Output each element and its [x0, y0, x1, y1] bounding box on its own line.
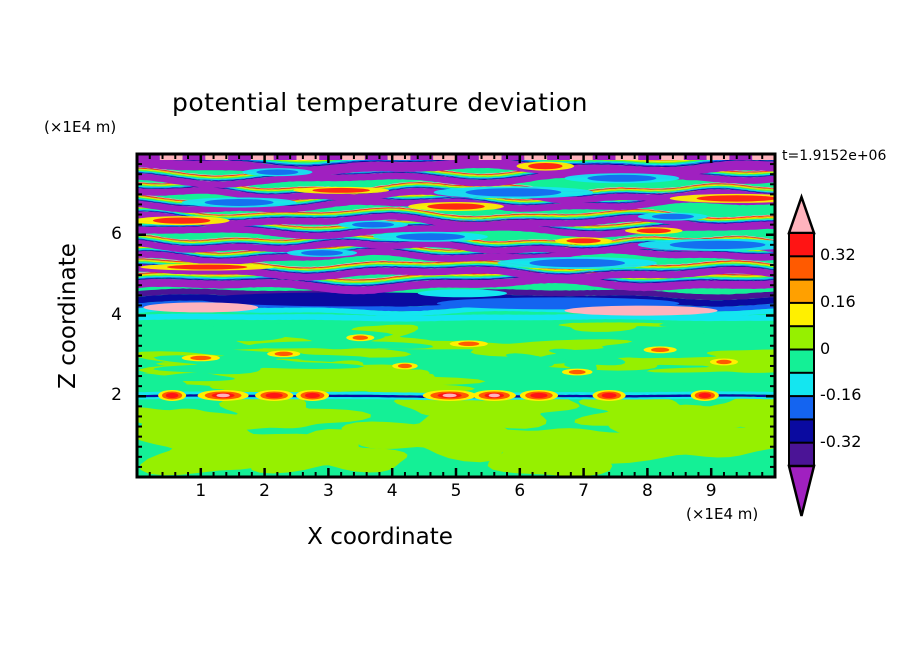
- colorbar-tick-label: -0.16: [820, 385, 861, 404]
- x-tick-label: 6: [505, 481, 535, 501]
- contour-plot: [0, 0, 904, 654]
- x-tick-label: 5: [441, 481, 471, 501]
- x-tick-label: 1: [186, 481, 216, 501]
- x-tick-label: 9: [696, 481, 726, 501]
- contour-field: [99, 148, 840, 477]
- colorbar-tick-label: -0.32: [820, 432, 861, 451]
- x-tick-label: 4: [377, 481, 407, 501]
- x-tick-label: 8: [632, 481, 662, 501]
- y-tick-label: 2: [92, 385, 122, 405]
- figure-canvas: potential temperature deviation t=1.9152…: [0, 0, 904, 654]
- x-tick-label: 3: [313, 481, 343, 501]
- colorbar: [789, 197, 814, 516]
- x-tick-label: 7: [569, 481, 599, 501]
- y-tick-label: 4: [92, 305, 122, 325]
- colorbar-tick-label: 0.32: [820, 245, 856, 264]
- x-tick-label: 2: [250, 481, 280, 501]
- y-tick-label: 6: [92, 224, 122, 244]
- colorbar-tick-label: 0.16: [820, 292, 856, 311]
- colorbar-tick-label: 0: [820, 339, 830, 358]
